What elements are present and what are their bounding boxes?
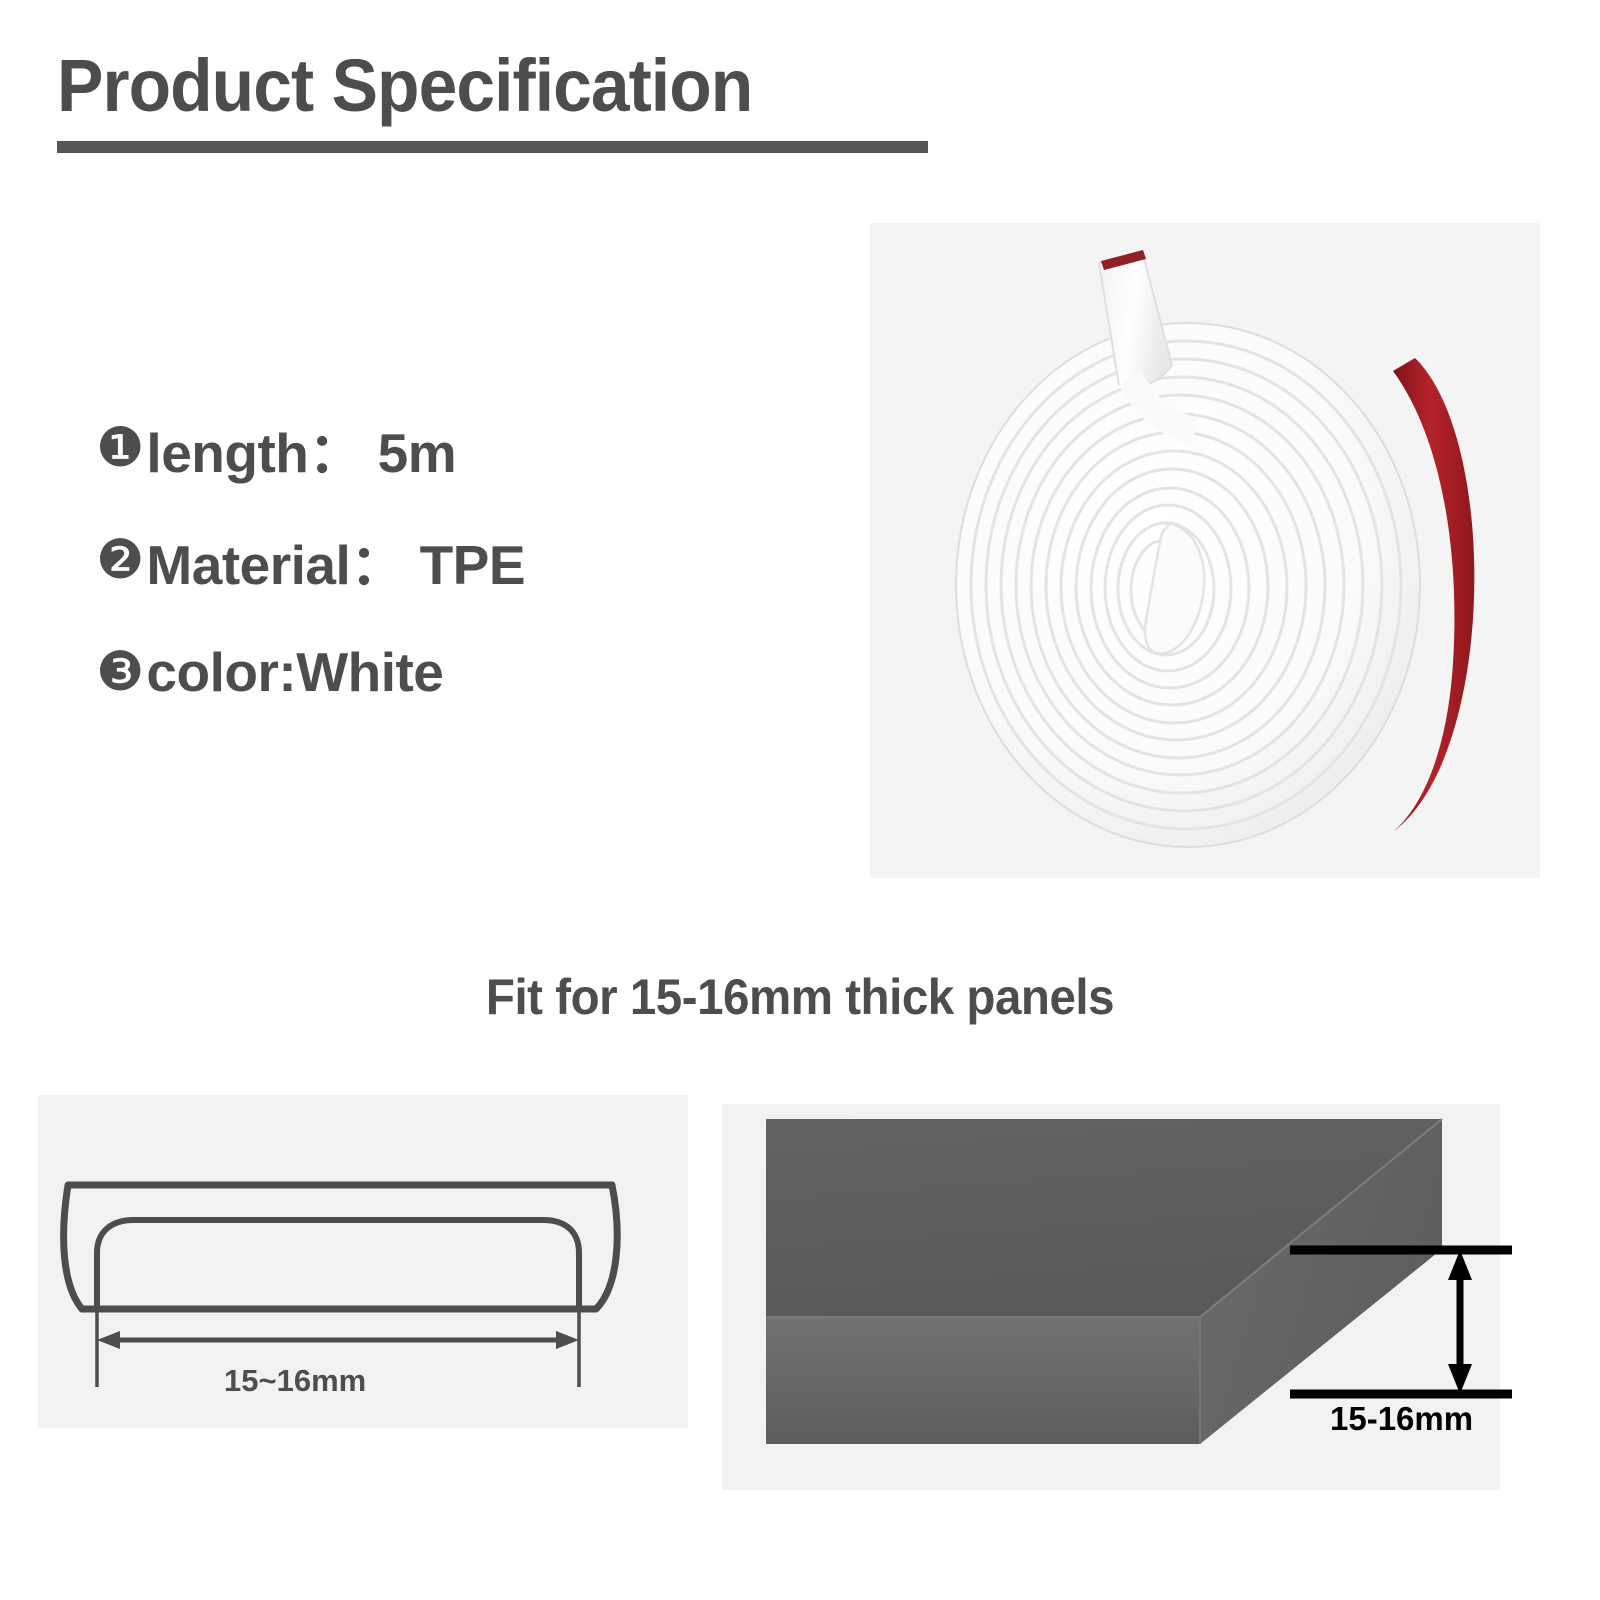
outer-profile-outline	[64, 1185, 618, 1309]
list-item: ❸ color:White	[96, 616, 716, 728]
spec-item-label-length: length： 5m	[146, 408, 456, 488]
list-item: ❷ Material： TPE	[96, 504, 716, 616]
dimension-arrow-horizontal	[97, 1331, 579, 1349]
profile-diagram-panel: 15~16mm	[38, 1095, 688, 1428]
title-block: Product Specification	[57, 48, 957, 153]
spec-item-label-color: color:White	[146, 640, 443, 704]
list-item: ❶ length： 5m	[96, 392, 716, 504]
number-badge-2-icon: ❷	[96, 533, 144, 587]
inner-cavity-outline	[97, 1220, 579, 1309]
page-title: Product Specification	[57, 48, 903, 123]
coil-illustration	[870, 223, 1540, 878]
panel-dimension-label: 15-16mm	[1330, 1400, 1473, 1437]
fit-section-heading: Fit for 15-16mm thick panels	[40, 968, 1560, 1026]
title-underline-bar	[57, 141, 928, 153]
number-badge-3-icon: ❸	[96, 645, 144, 699]
product-photo-coil	[870, 223, 1540, 878]
profile-dimension-label: 15~16mm	[224, 1363, 366, 1398]
spec-item-label-material: Material： TPE	[146, 520, 525, 600]
number-badge-1-icon: ❶	[96, 421, 144, 475]
specification-list: ❶ length： 5m ❷ Material： TPE ❸ color:Whi…	[96, 392, 716, 728]
u-channel-cross-section-diagram: 15~16mm	[38, 1095, 688, 1428]
dimension-arrow-vertical	[1448, 1250, 1472, 1394]
slab-front-face	[766, 1317, 1200, 1444]
panel-thickness-3d-diagram: 15-16mm	[722, 1104, 1500, 1490]
panel-thickness-diagram-panel: 15-16mm	[722, 1104, 1500, 1490]
